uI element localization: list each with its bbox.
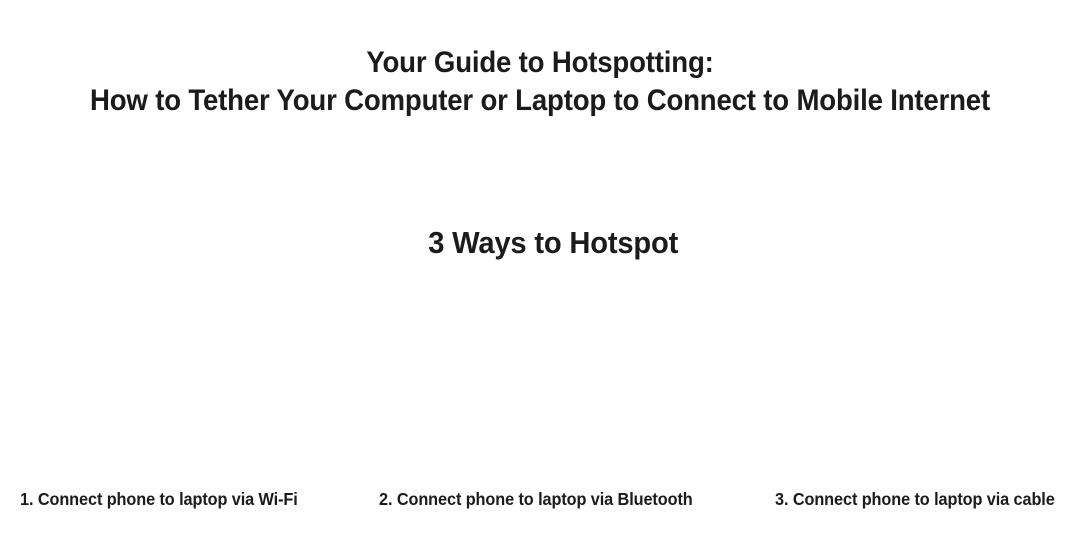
section-heading-three-ways-to-hotspot: 3 Ways to Hotspot xyxy=(46,224,1061,262)
step-3-illustration xyxy=(720,280,1080,478)
step-caption-cable: 3. Connect phone to laptop via cable xyxy=(775,488,1055,510)
article-title: Your Guide to Hotspotting: How to Tether… xyxy=(0,44,1080,120)
step-caption-bluetooth: 2. Connect phone to laptop via Bluetooth xyxy=(379,488,693,510)
article-title-line-2: How to Tether Your Computer or Laptop to… xyxy=(43,82,1037,120)
step-1-illustration xyxy=(0,280,360,478)
article-title-line-1: Your Guide to Hotspotting: xyxy=(43,44,1037,82)
step-2-illustration xyxy=(360,280,720,478)
step-captions-row: 1. Connect phone to laptop via Wi-Fi 2. … xyxy=(0,488,1080,512)
article-page: Your Guide to Hotspotting: How to Tether… xyxy=(0,0,1080,552)
step-caption-wifi: 1. Connect phone to laptop via Wi-Fi xyxy=(20,488,298,510)
steps-illustration-band xyxy=(0,280,1080,478)
